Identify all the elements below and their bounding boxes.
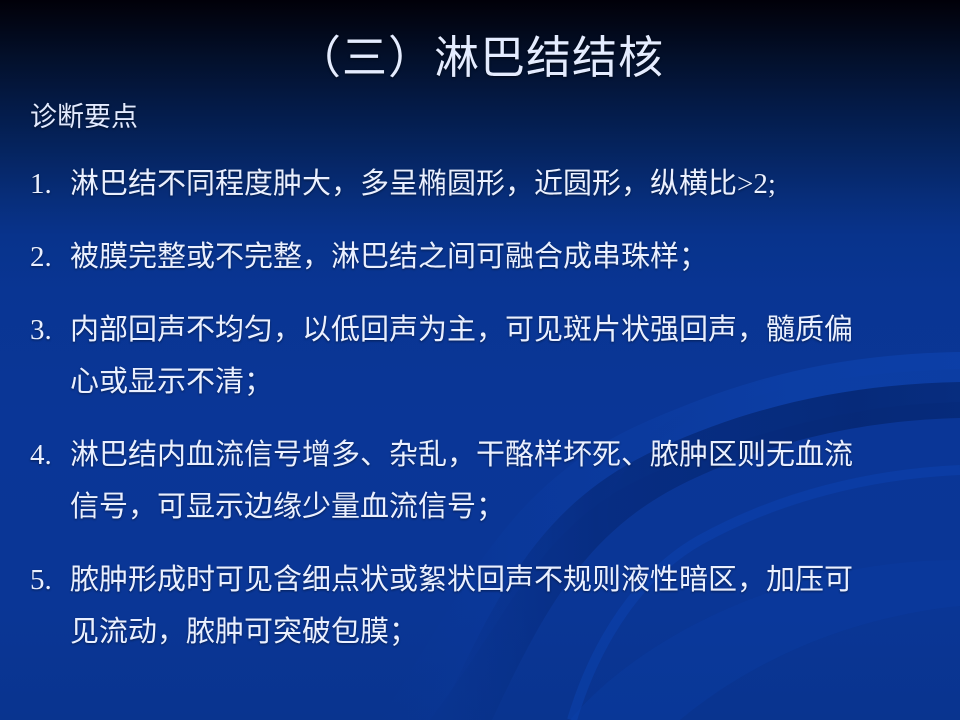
- list-item: 2.被膜完整或不完整，淋巴结之间可融合成串珠样；: [30, 241, 942, 293]
- presentation-slide: （三）淋巴结结核 诊断要点 1.淋巴结不同程度肿大，多呈椭圆形，近圆形，纵横比>…: [0, 0, 960, 720]
- list-item: 5.脓肿形成时可见含细点状或絮状回声不规则液性暗区，加压可 见流动，脓肿可突破包…: [30, 564, 942, 668]
- list-item-text: 脓肿形成时可见含细点状或絮状回声不规则液性暗区，加压可: [70, 564, 853, 596]
- list-item-first-line: 4.淋巴结内血流信号增多、杂乱，干酪样坏死、脓肿区则无血流: [30, 439, 942, 491]
- list-item-number: 1.: [30, 168, 70, 200]
- list-item-wrapped-line: 心或显示不清；: [30, 366, 942, 418]
- list-item: 3.内部回声不均匀，以低回声为主，可见斑片状强回声，髓质偏 心或显示不清；: [30, 314, 942, 418]
- list-item-number: 2.: [30, 241, 70, 273]
- slide-subtitle: 诊断要点: [30, 100, 138, 134]
- list-item: 1.淋巴结不同程度肿大，多呈椭圆形，近圆形，纵横比>2;: [30, 168, 942, 220]
- list-item-text: 淋巴结内血流信号增多、杂乱，干酪样坏死、脓肿区则无血流: [70, 439, 853, 471]
- list-item-number: 5.: [30, 564, 70, 596]
- list-item-text: 被膜完整或不完整，淋巴结之间可融合成串珠样；: [70, 241, 708, 273]
- list-item-text: 信号，可显示边缘少量血流信号；: [30, 491, 505, 523]
- list-item-text: 心或显示不清；: [30, 366, 273, 398]
- list-item-wrapped-line: 信号，可显示边缘少量血流信号；: [30, 491, 942, 543]
- list-item-first-line: 2.被膜完整或不完整，淋巴结之间可融合成串珠样；: [30, 241, 942, 293]
- list-item-first-line: 3.内部回声不均匀，以低回声为主，可见斑片状强回声，髓质偏: [30, 314, 942, 366]
- list-item-text: 淋巴结不同程度肿大，多呈椭圆形，近圆形，纵横比>2;: [70, 168, 776, 200]
- list-item: 4.淋巴结内血流信号增多、杂乱，干酪样坏死、脓肿区则无血流 信号，可显示边缘少量…: [30, 439, 942, 543]
- list-item-first-line: 5.脓肿形成时可见含细点状或絮状回声不规则液性暗区，加压可: [30, 564, 942, 616]
- list-item-wrapped-line: 见流动，脓肿可突破包膜；: [30, 616, 942, 668]
- list-item-text: 内部回声不均匀，以低回声为主，可见斑片状强回声，髓质偏: [70, 314, 853, 346]
- slide-title: （三）淋巴结结核: [0, 31, 960, 85]
- list-item-text: 见流动，脓肿可突破包膜；: [30, 616, 418, 648]
- diagnostic-points-list: 1.淋巴结不同程度肿大，多呈椭圆形，近圆形，纵横比>2; 2.被膜完整或不完整，…: [30, 168, 942, 689]
- list-item-number: 3.: [30, 314, 70, 346]
- list-item-first-line: 1.淋巴结不同程度肿大，多呈椭圆形，近圆形，纵横比>2;: [30, 168, 942, 220]
- list-item-number: 4.: [30, 439, 70, 471]
